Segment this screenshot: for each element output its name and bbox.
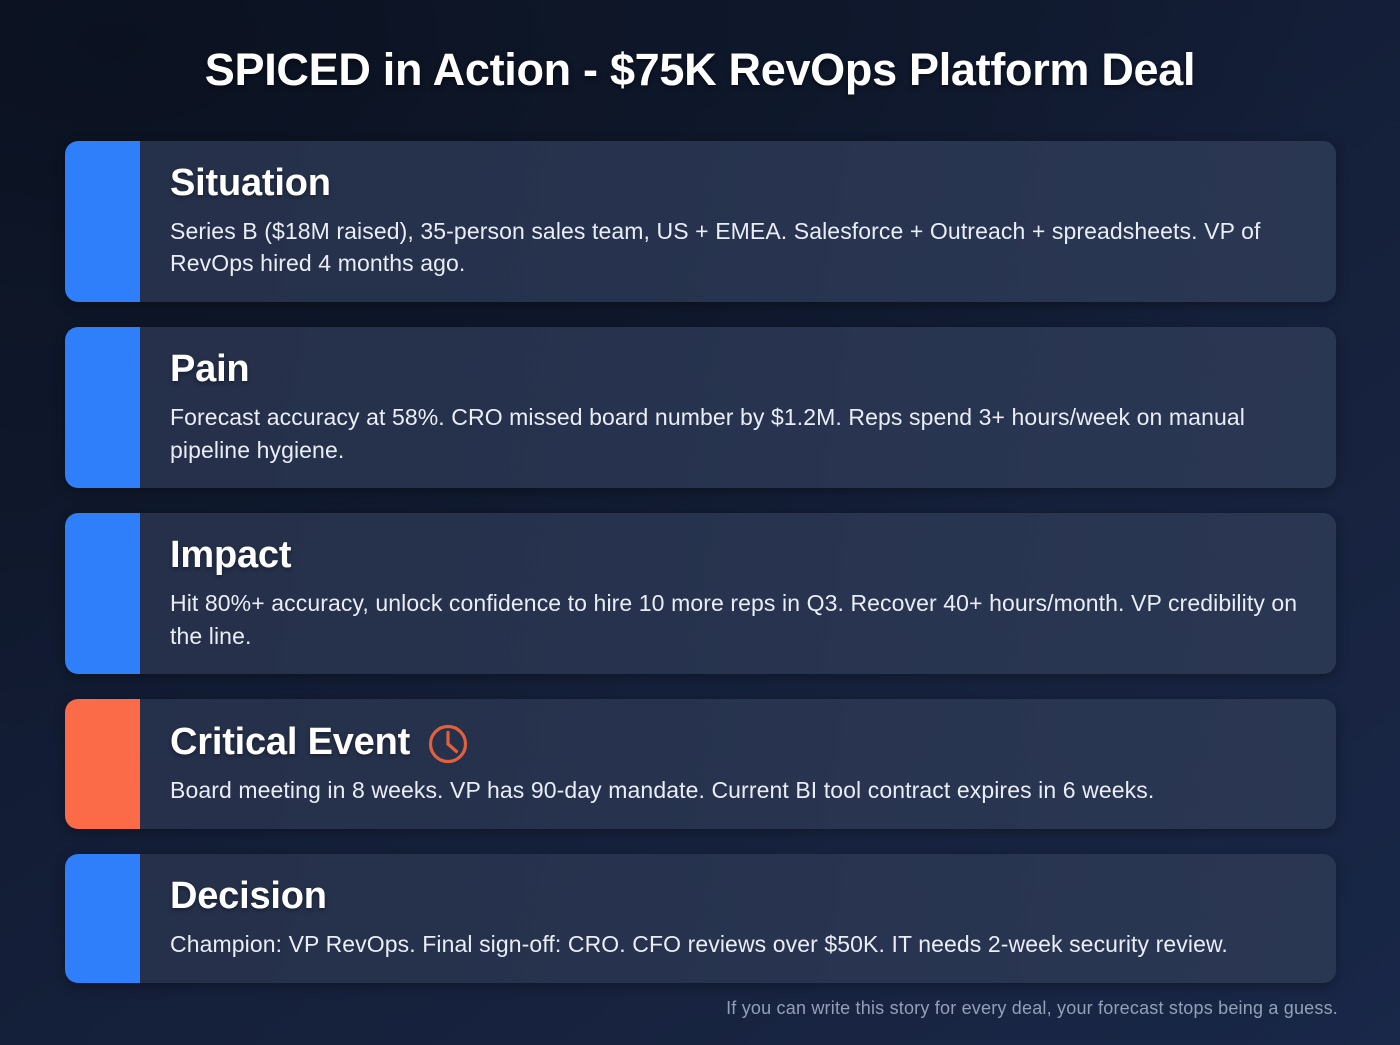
card-body-situation: Situation Series B ($18M raised), 35-per… [140, 141, 1336, 302]
card-text-critical-event: Board meeting in 8 weeks. VP has 90-day … [170, 774, 1298, 807]
accent-bar-impact [65, 513, 140, 674]
footer-note: If you can write this story for every de… [726, 998, 1338, 1019]
card-title-situation: Situation [170, 161, 331, 206]
card-head-decision: Decision [170, 874, 1310, 919]
card-text-pain: Forecast accuracy at 58%. CRO missed boa… [170, 401, 1298, 466]
card-text-impact: Hit 80%+ accuracy, unlock confidence to … [170, 587, 1298, 652]
accent-bar-critical-event [65, 699, 140, 829]
card-body-critical-event: Critical Event Board meeting in 8 weeks.… [140, 699, 1336, 829]
card-body-decision: Decision Champion: VP RevOps. Final sign… [140, 854, 1336, 982]
card-head-situation: Situation [170, 161, 1310, 206]
card-title-decision: Decision [170, 874, 327, 919]
spiced-card-situation: Situation Series B ($18M raised), 35-per… [65, 141, 1336, 302]
card-head-critical-event: Critical Event [170, 719, 1310, 765]
page-title: SPICED in Action - $75K RevOps Platform … [0, 44, 1400, 96]
card-title-critical-event: Critical Event [170, 720, 410, 765]
card-title-pain: Pain [170, 347, 249, 392]
accent-bar-situation [65, 141, 140, 302]
card-body-impact: Impact Hit 80%+ accuracy, unlock confide… [140, 513, 1336, 674]
spiced-card-pain: Pain Forecast accuracy at 58%. CRO misse… [65, 327, 1336, 488]
spiced-card-impact: Impact Hit 80%+ accuracy, unlock confide… [65, 513, 1336, 674]
title-container: SPICED in Action - $75K RevOps Platform … [0, 0, 1400, 96]
spiced-card-list: Situation Series B ($18M raised), 35-per… [65, 141, 1336, 1008]
clock-icon [427, 723, 469, 765]
card-text-situation: Series B ($18M raised), 35-person sales … [170, 215, 1298, 280]
card-text-decision: Champion: VP RevOps. Final sign-off: CRO… [170, 928, 1298, 961]
accent-bar-pain [65, 327, 140, 488]
spiced-card-decision: Decision Champion: VP RevOps. Final sign… [65, 854, 1336, 982]
spiced-card-critical-event: Critical Event Board meeting in 8 weeks.… [65, 699, 1336, 829]
spiced-slide: SPICED in Action - $75K RevOps Platform … [0, 0, 1400, 1045]
card-head-impact: Impact [170, 533, 1310, 578]
card-title-impact: Impact [170, 533, 291, 578]
card-body-pain: Pain Forecast accuracy at 58%. CRO misse… [140, 327, 1336, 488]
card-head-pain: Pain [170, 347, 1310, 392]
accent-bar-decision [65, 854, 140, 982]
